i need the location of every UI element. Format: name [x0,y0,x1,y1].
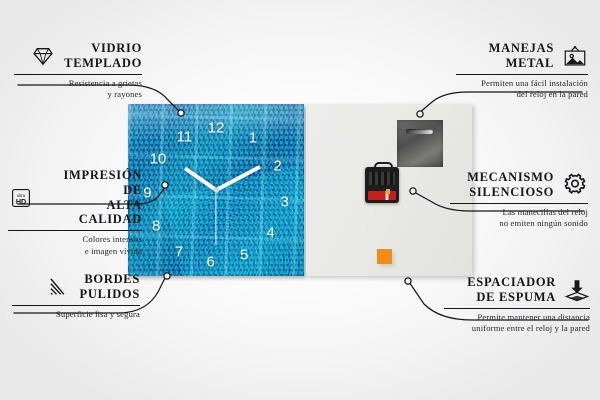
callout-title: MANEJAS METAL [489,41,554,71]
callout-title-line1: MANEJAS [489,41,554,55]
arrow-down-layers-icon [564,277,590,303]
callout-description: Superficie lisa y segura [12,309,140,321]
marker-espaciador [405,278,411,284]
callout-title-line2: PULIDOS [80,287,140,301]
callout-description: Colores intensos e imagen vívida [8,234,142,258]
clock-numeral-10: 10 [150,152,167,167]
callout-title-line2: TEMPLADO [64,56,142,70]
callout-title: VIDRIO TEMPLADO [64,41,142,71]
callout-description: Permite mantener una distancia uniforme … [444,312,590,336]
clock-second-hand [215,190,216,245]
clock-numeral-8: 8 [152,219,160,234]
clock-front-face: 12 1 2 3 4 5 6 7 8 9 10 11 [128,104,304,276]
callout-title-line1: MECANISMO [467,170,554,184]
foam-spacer [377,249,392,264]
mechanism-hook [374,162,393,172]
callout-rule [8,230,142,231]
callout-title-line1: IMPRESIÓN DE [63,168,142,197]
callout-title-line1: BORDES [84,272,140,286]
callout-desc-line1: Las manecillas del reloj [503,207,588,217]
callout-manejas-metal: MANEJAS METAL Permiten una fácil instala… [456,41,588,101]
clock-center-hub [214,188,219,193]
clock-numeral-12: 12 [208,121,225,136]
callout-mecanismo-silencioso: MECANISMO SILENCIOSO Las manecillas del … [450,170,588,230]
polished-edge-icon [46,274,72,300]
gear-icon [562,172,588,198]
callout-title: IMPRESIÓN DE ALTA CALIDAD [42,168,142,227]
callout-rule [456,74,588,75]
callout-description: Resistencia a grietas y rayones [14,78,142,102]
clock-numeral-3: 3 [280,195,288,210]
clock-numeral-5: 5 [240,248,248,263]
callout-desc-line1: Colores intensos [83,234,142,244]
callout-vidrio-templado: VIDRIO TEMPLADO Resistencia a grietas y … [14,41,142,101]
clock-back-panel [306,104,472,276]
clock-numeral-6: 6 [207,255,215,270]
product-image-group: 12 1 2 3 4 5 6 7 8 9 10 11 [128,104,472,276]
clock-hour-hand [184,167,217,192]
callout-desc-line2: del reloj en la pared [517,89,588,99]
callout-title-line2: DE ESPUMA [476,290,556,304]
callout-desc-line1: Resistencia a grietas [69,78,142,88]
callout-desc-line1: Permite mantener una distancia [477,312,590,322]
clock-numeral-11: 11 [177,129,193,144]
callout-rule [444,308,590,309]
callout-bordes-pulidos: BORDES PULIDOS Superficie lisa y segura [12,272,140,320]
hanger-slot [406,129,433,134]
battery-label [368,191,396,200]
callout-description: Permiten una fácil instalación del reloj… [456,78,588,102]
callout-rule [12,305,140,306]
mechanism-housing [369,172,395,185]
callout-espaciador-de-espuma: ESPACIADOR DE ESPUMA Permite mantener un… [444,275,590,335]
diamond-icon [30,43,56,69]
callout-desc-line2: no emiten ningún sonido [499,218,588,228]
callout-desc-line2: uniforme entre el reloj y la pared [472,323,590,333]
callout-impresion-alta-calidad: ultra HD IMPRESIÓN DE ALTA CALIDAD Color… [8,168,142,258]
svg-text:HD: HD [16,198,26,206]
clock-numeral-7: 7 [175,244,183,259]
callout-title-line1: VIDRIO [91,41,142,55]
clock-minute-hand [215,165,261,192]
quartz-mechanism [365,167,399,203]
callout-title-line1: ESPACIADOR [467,275,556,289]
clock-dial: 12 1 2 3 4 5 6 7 8 9 10 11 [128,104,304,276]
picture-frame-hanger-icon [562,43,588,69]
callout-desc-line1: Permiten una fácil instalación [481,78,588,88]
metal-hanger-plate [397,120,443,167]
clock-numeral-4: 4 [266,226,274,241]
callout-description: Las manecillas del reloj no emiten ningú… [450,207,588,231]
callout-desc-line2: e imagen vívida [85,246,142,256]
ultra-hd-icon: ultra HD [8,185,34,211]
callout-title: BORDES PULIDOS [80,272,140,302]
callout-title: MECANISMO SILENCIOSO [467,170,554,200]
callout-rule [450,203,588,204]
callout-title-line2: ALTA CALIDAD [79,198,142,227]
infographic-canvas: 12 1 2 3 4 5 6 7 8 9 10 11 [0,0,600,400]
callout-title: ESPACIADOR DE ESPUMA [467,275,556,305]
clock-numeral-2: 2 [273,158,281,173]
callout-desc-line2: y rayones [107,89,142,99]
clock-numeral-9: 9 [143,186,151,201]
clock-numeral-1: 1 [249,131,257,146]
callout-title-line2: SILENCIOSO [469,185,554,199]
callout-title-line2: METAL [506,56,554,70]
callout-desc-line1: Superficie lisa y segura [56,309,140,319]
callout-rule [14,74,142,75]
